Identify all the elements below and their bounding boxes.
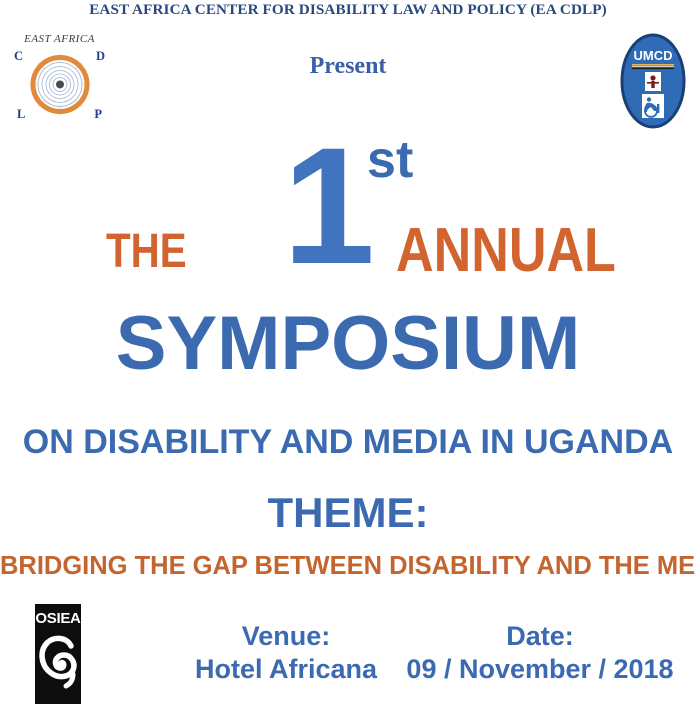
ea-cdlp-wordmark: EAST AFRICA (11, 33, 108, 45)
ordinal-suffix: st (367, 131, 413, 189)
osiea-wordmark: OSIEA (35, 610, 81, 627)
ea-cdlp-letter-c: C (14, 49, 23, 64)
organization-header: EAST AFRICA CENTER FOR DISABILITY LAW AN… (0, 1, 696, 19)
event-subtitle: ON DISABILITY AND MEDIA IN UGANDA (0, 425, 696, 459)
symposium-title: SYMPOSIUM (0, 306, 696, 382)
umcd-oval-badge-icon: UMCD (620, 32, 686, 130)
ea-cdlp-letter-l: L (17, 107, 25, 122)
date-label: Date: (404, 620, 676, 653)
concentric-rings-icon (29, 53, 91, 115)
venue-value: Hotel Africana (186, 653, 386, 686)
svg-text:UMCD: UMCD (634, 48, 673, 63)
osiea-logo: OSIEA (35, 604, 81, 704)
venue-label: Venue: (186, 620, 386, 653)
annual-word: ANNUAL (396, 220, 616, 282)
theme-label: THEME: (0, 492, 696, 534)
date-block: Date: 09 / November / 2018 (404, 620, 676, 686)
date-value: 09 / November / 2018 (404, 653, 676, 686)
the-word: THE (106, 228, 187, 276)
event-poster: EAST AFRICA CENTER FOR DISABILITY LAW AN… (0, 0, 696, 712)
ea-cdlp-letter-d: D (96, 49, 105, 64)
ordinal-number: 1 (283, 114, 371, 299)
spiral-swirl-icon (37, 630, 79, 692)
theme-statement: BRIDGING THE GAP BETWEEN DISABILITY AND … (0, 554, 696, 580)
umcd-logo: UMCD (620, 32, 686, 130)
ea-cdlp-logo: EAST AFRICA C D L P (11, 33, 108, 130)
venue-block: Venue: Hotel Africana (186, 620, 386, 686)
ea-cdlp-letter-p: P (94, 107, 102, 122)
